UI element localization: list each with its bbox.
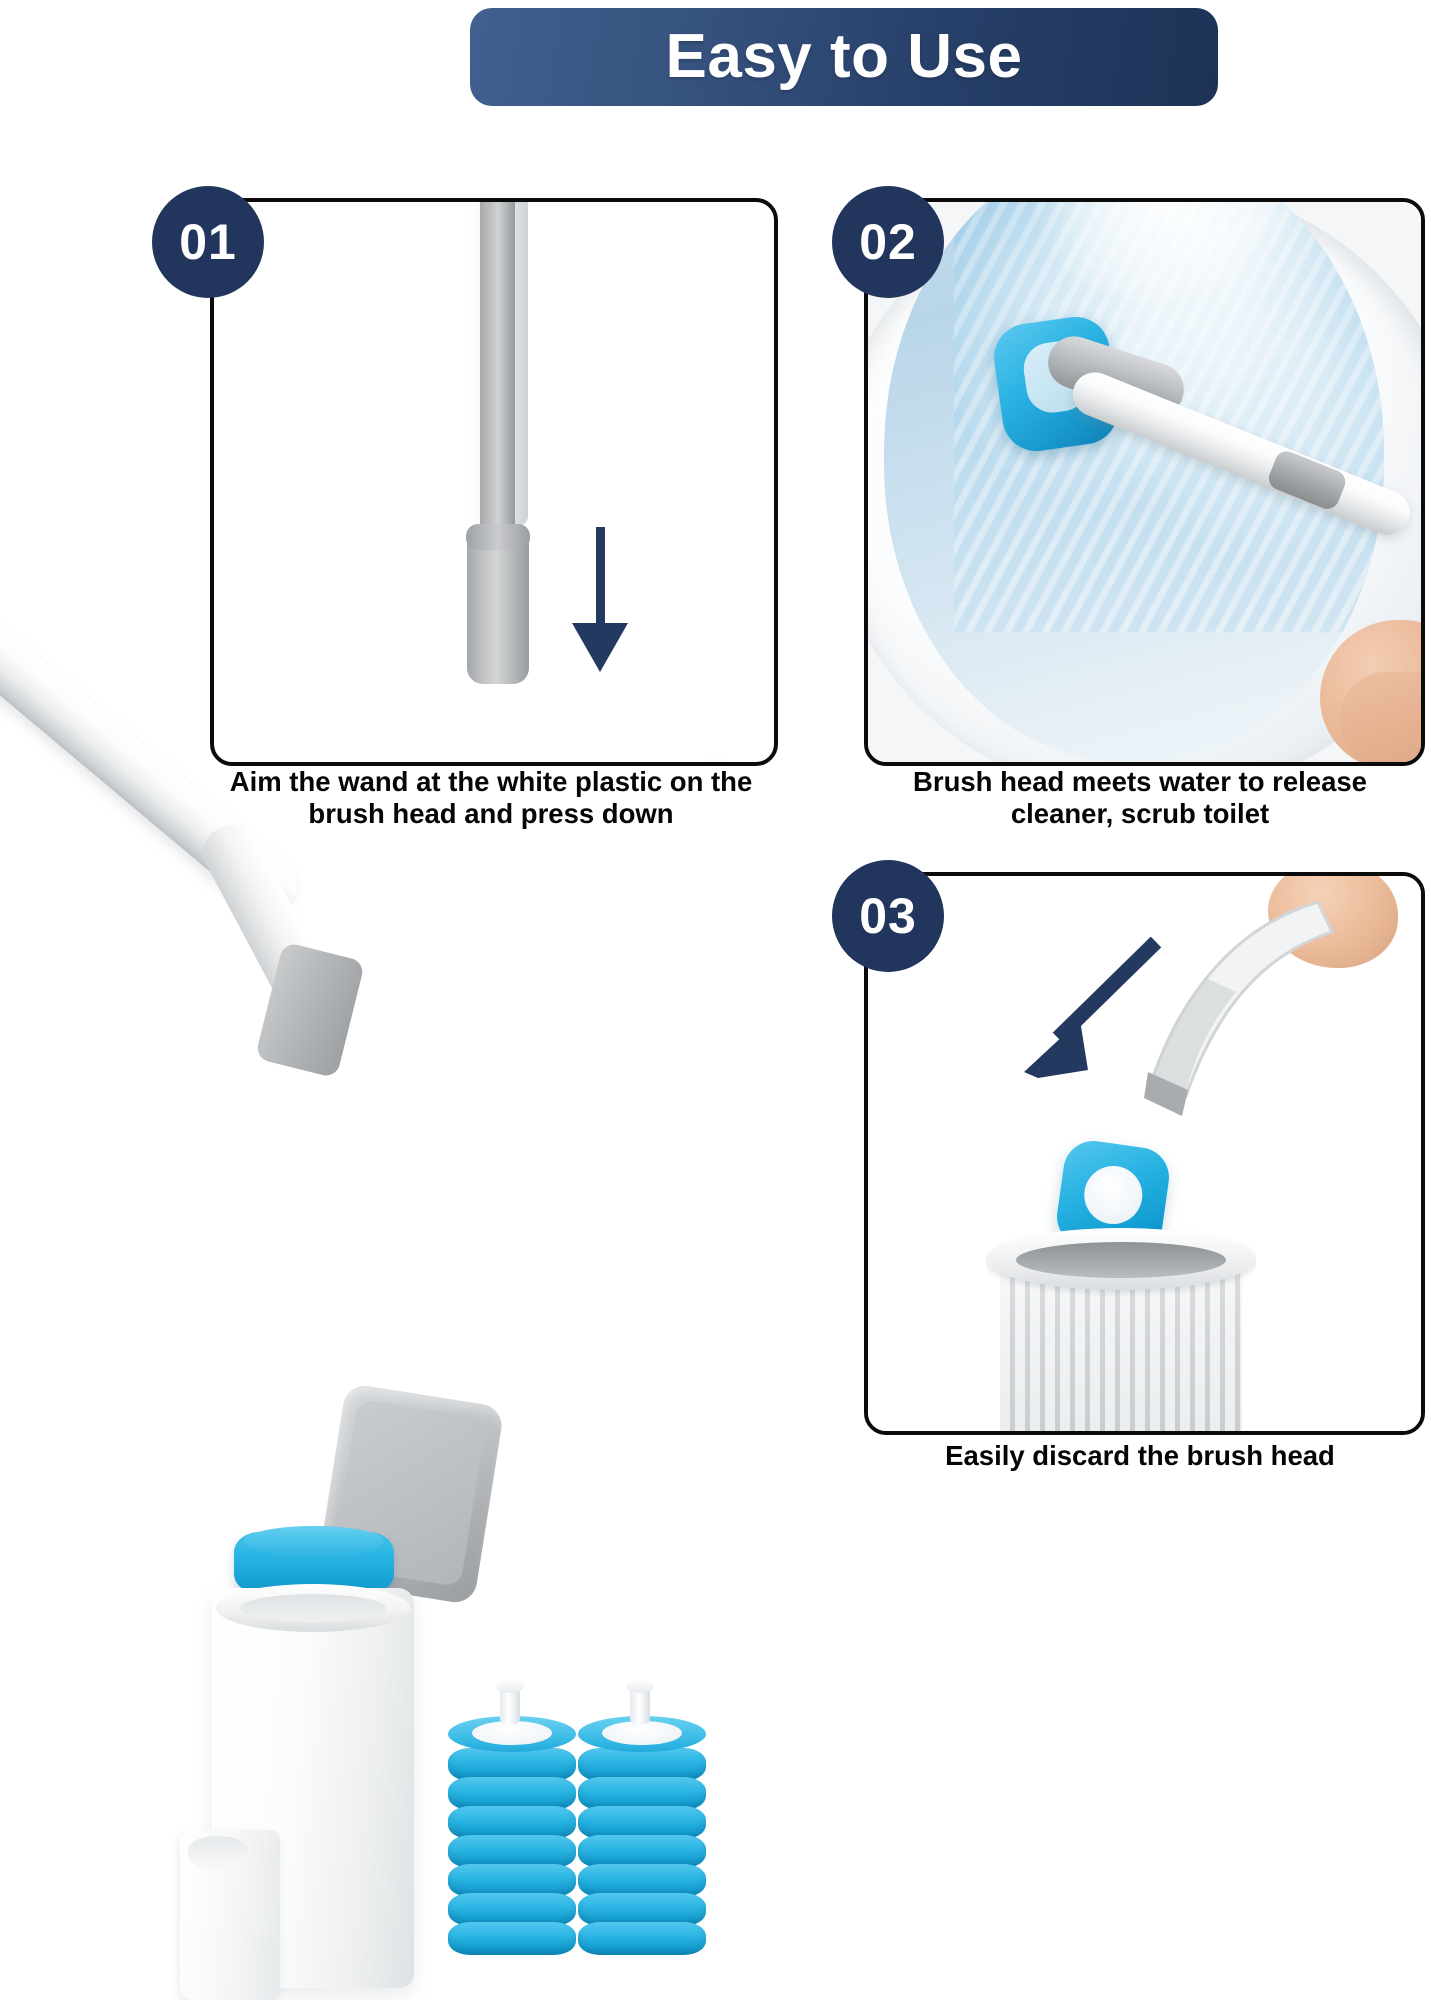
header-banner: Easy to Use: [470, 8, 1218, 106]
refill-disc: [578, 1777, 706, 1810]
refill-disc: [578, 1922, 706, 1955]
refill-post-icon: [630, 1686, 650, 1724]
step-panel-03: [864, 872, 1425, 1435]
refill-disc: [578, 1835, 706, 1868]
refill-disc: [448, 1777, 576, 1810]
step-number-02: 02: [859, 213, 917, 271]
step-badge-02: 02: [832, 186, 944, 298]
wand-inner-tube-icon: [480, 198, 515, 548]
caddy-body-icon: [212, 1588, 414, 1988]
caddy-opening-icon: [216, 1584, 410, 1632]
refill-disc: [448, 1806, 576, 1839]
refill-disc: [448, 1922, 576, 1955]
refill-post-icon: [500, 1686, 520, 1724]
trash-can-icon: [986, 1228, 1256, 1435]
refill-stack-left: [448, 1716, 576, 1955]
step-badge-01: 01: [152, 186, 264, 298]
step-02-illustration: [868, 202, 1421, 762]
refill-disc: [448, 1893, 576, 1926]
step-panel-02: [864, 198, 1425, 766]
refill-disc: [448, 1748, 576, 1781]
step-number-03: 03: [859, 887, 917, 945]
step-01-illustration: [214, 202, 774, 762]
fingers-icon: [1340, 672, 1425, 766]
attached-sponge-head-icon: [234, 1532, 394, 1594]
step-badge-03: 03: [832, 860, 944, 972]
refill-top-disc: [448, 1716, 576, 1752]
refill-top-disc: [578, 1716, 706, 1752]
refill-stack-right: [578, 1716, 706, 1955]
step-caption-01: Aim the wand at the white plastic on the…: [208, 766, 774, 830]
refill-disc: [578, 1864, 706, 1897]
refill-disc: [578, 1893, 706, 1926]
step-03-illustration: [868, 876, 1421, 1431]
step-caption-03: Easily discard the brush head: [860, 1440, 1420, 1472]
refill-disc: [448, 1864, 576, 1897]
refill-disc: [448, 1835, 576, 1868]
diagonal-arrow-icon: [988, 920, 1178, 1110]
caddy-front-pocket-icon: [180, 1830, 280, 2000]
down-arrow-icon: [572, 527, 628, 672]
refill-disc: [578, 1806, 706, 1839]
wand-tip-icon: [467, 536, 529, 684]
page-title: Easy to Use: [665, 26, 1022, 88]
step-number-01: 01: [179, 213, 237, 271]
step-caption-02: Brush head meets water to release cleane…: [860, 766, 1420, 830]
refill-disc: [578, 1748, 706, 1781]
wand-neck-icon: [255, 942, 366, 1079]
wand-handle-lower: [192, 815, 332, 1010]
step-panel-01: [210, 198, 778, 766]
caddy-lid-icon: [315, 1383, 504, 1606]
